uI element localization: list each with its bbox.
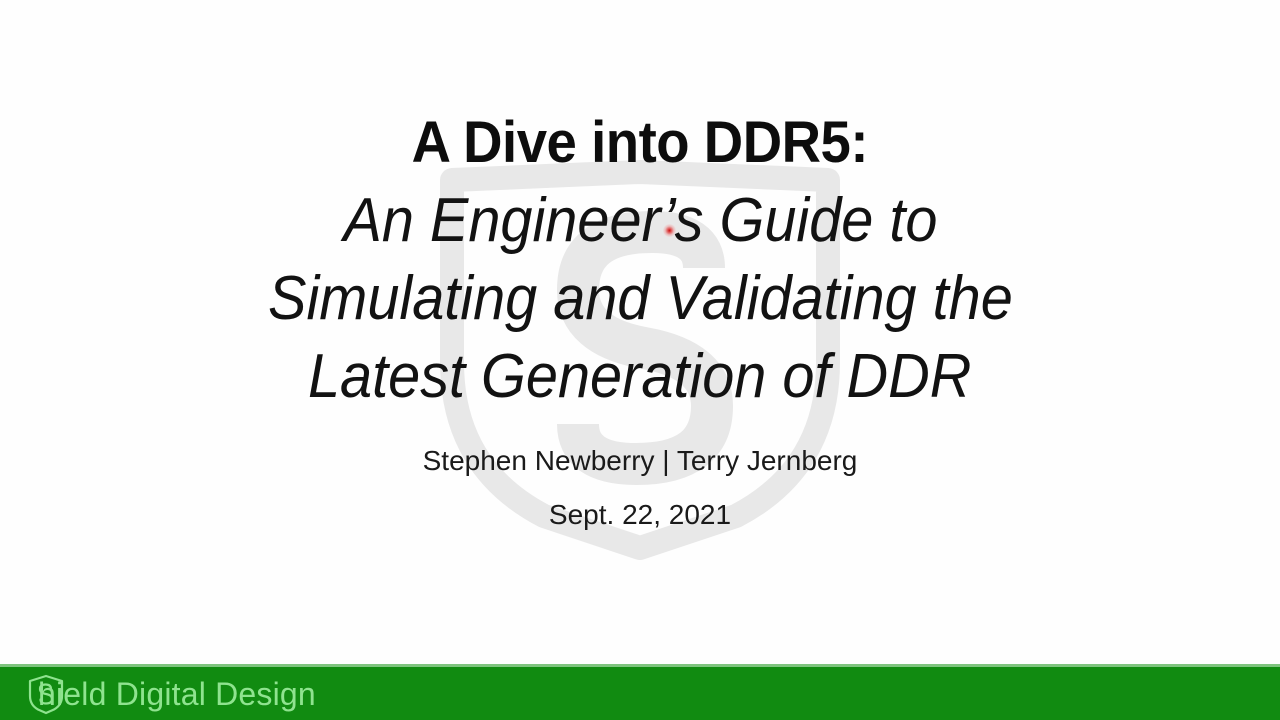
- slide-content: A Dive into DDR5: An Engineer’s Guide to…: [0, 0, 1280, 666]
- presentation-title-slide: A Dive into DDR5: An Engineer’s Guide to…: [0, 0, 1280, 720]
- footer-bar: hield Digital Design: [0, 667, 1280, 720]
- slide-subtitle-line-2: Simulating and Validating the: [268, 260, 1013, 338]
- slide-subtitle-line-1: An Engineer’s Guide to: [343, 182, 937, 260]
- slide-title: A Dive into DDR5:: [412, 104, 868, 182]
- slide-authors: Stephen Newberry | Terry Jernberg: [423, 444, 858, 478]
- slide-date: Sept. 22, 2021: [549, 498, 731, 532]
- slide-subtitle-line-3: Latest Generation of DDR: [308, 338, 971, 416]
- brand-logo[interactable]: hield Digital Design: [26, 676, 316, 712]
- shield-s-logo-icon: [26, 672, 66, 716]
- brand-name-label: hield Digital Design: [26, 676, 316, 712]
- slide-subtitle: An Engineer’s Guide to Simulating and Va…: [240, 182, 1041, 416]
